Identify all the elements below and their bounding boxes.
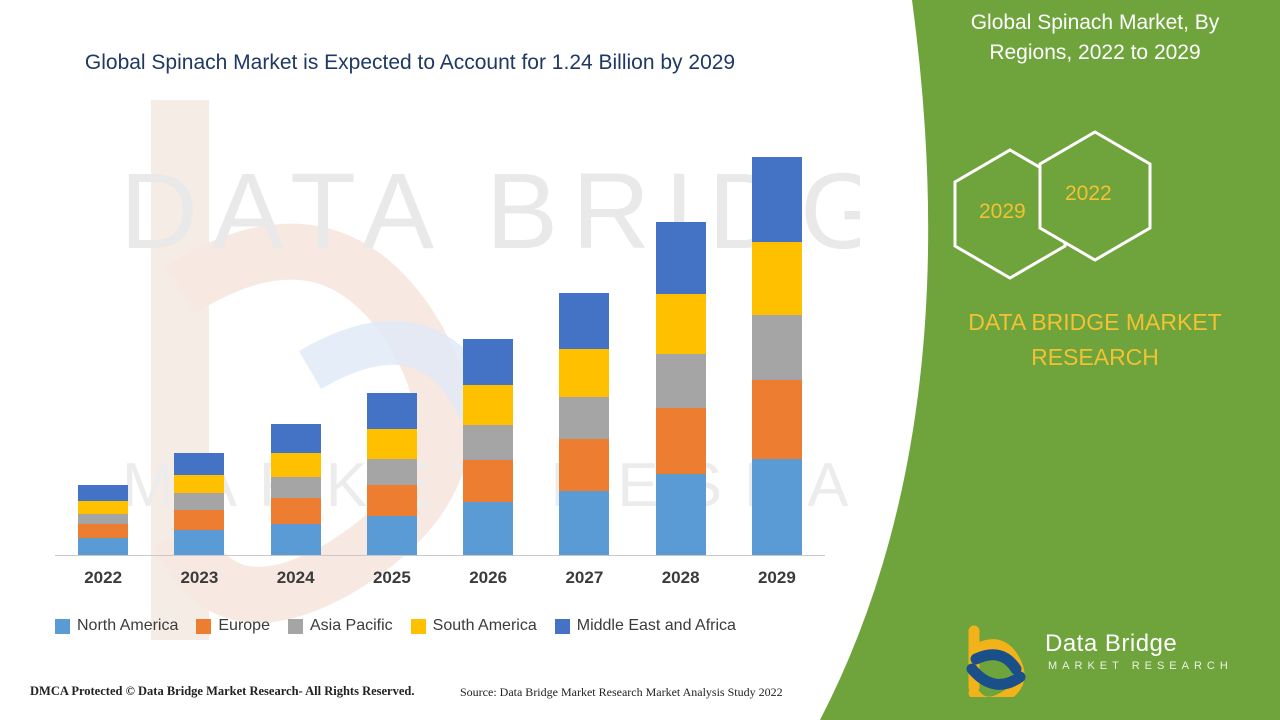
x-axis-label: 2023 (154, 568, 244, 588)
legend-label: South America (433, 617, 537, 635)
bar-segment (271, 424, 321, 453)
bar-column (559, 293, 609, 555)
bar-segment (78, 501, 128, 514)
x-axis-tick-labels: 20222023202420252026202720282029 (55, 568, 825, 596)
bar-segment (367, 429, 417, 459)
x-axis-label: 2027 (539, 568, 629, 588)
bar-segment (174, 510, 224, 530)
x-axis-label: 2022 (58, 568, 148, 588)
bar-column (174, 453, 224, 555)
page-title: Global Spinach Market is Expected to Acc… (40, 48, 780, 78)
bar-segment (367, 459, 417, 485)
x-axis-label: 2026 (443, 568, 533, 588)
bar-column (78, 485, 128, 555)
bar-segment (174, 475, 224, 493)
bar-segment (78, 485, 128, 501)
bar-column (752, 157, 802, 555)
bar-segment (656, 222, 706, 293)
bar-segment (559, 439, 609, 491)
chart-panel: Global Spinach Market is Expected to Acc… (0, 0, 860, 720)
bar-segment (752, 157, 802, 242)
bar-segment (463, 502, 513, 555)
bar-segment (78, 524, 128, 538)
chart-legend: North AmericaEuropeAsia PacificSouth Ame… (55, 617, 845, 635)
legend-label: Europe (218, 617, 270, 635)
legend-label: North America (77, 617, 178, 635)
bar-segment (752, 242, 802, 315)
hex-label-2022: 2022 (1065, 182, 1112, 206)
brand-line-2: RESEARCH (1031, 344, 1159, 370)
bar-segment (656, 294, 706, 355)
bar-segment (367, 393, 417, 429)
bar-segment (559, 397, 609, 439)
hex-label-2029: 2029 (979, 200, 1026, 224)
brand-panel: Global Spinach Market, By Regions, 2022 … (820, 0, 1280, 720)
legend-swatch-icon (411, 619, 426, 634)
bar-segment (559, 491, 609, 555)
hex-badges: 2029 2022 (935, 130, 1255, 290)
bar-segment (656, 354, 706, 408)
legend-item[interactable]: Asia Pacific (288, 617, 393, 635)
bar-segment (271, 498, 321, 524)
bar-segment (752, 459, 802, 555)
bar-column (463, 339, 513, 555)
source-text: Source: Data Bridge Market Research Mark… (460, 685, 783, 700)
bar-segment (174, 453, 224, 475)
bar-segment (78, 538, 128, 555)
bar-segment (463, 460, 513, 502)
legend-item[interactable]: North America (55, 617, 178, 635)
bar-segment (271, 453, 321, 477)
copyright-text: DMCA Protected © Data Bridge Market Rese… (30, 684, 415, 699)
legend-swatch-icon (55, 619, 70, 634)
bar-segment (367, 485, 417, 517)
bar-segment (752, 380, 802, 459)
bar-segment (174, 530, 224, 555)
legend-swatch-icon (555, 619, 570, 634)
bar-segment (559, 349, 609, 397)
bar-segment (656, 408, 706, 474)
x-axis-label: 2029 (732, 568, 822, 588)
bar-segment (559, 293, 609, 349)
bar-segment (271, 524, 321, 555)
x-axis-line (55, 555, 825, 556)
logo-text: Data Bridge (1045, 630, 1177, 658)
bar-column (656, 222, 706, 555)
bar-segment (463, 425, 513, 460)
bar-segment (174, 493, 224, 509)
legend-swatch-icon (196, 619, 211, 634)
stacked-bar-chart (55, 150, 825, 555)
legend-swatch-icon (288, 619, 303, 634)
brand-name: DATA BRIDGE MARKET RESEARCH (930, 305, 1260, 374)
legend-label: Middle East and Africa (577, 617, 736, 635)
bar-column (271, 424, 321, 555)
logo-subtext: MARKET RESEARCH (1048, 660, 1233, 672)
data-bridge-logo-icon (960, 625, 1040, 697)
bar-segment (367, 516, 417, 555)
bar-segment (78, 514, 128, 525)
x-axis-label: 2025 (347, 568, 437, 588)
panel-title: Global Spinach Market, By Regions, 2022 … (930, 8, 1260, 69)
legend-item[interactable]: Europe (196, 617, 270, 635)
bar-segment (271, 477, 321, 498)
bar-segment (656, 474, 706, 555)
legend-item[interactable]: Middle East and Africa (555, 617, 736, 635)
bar-segment (463, 385, 513, 425)
bar-segment (752, 315, 802, 380)
brand-line-1: DATA BRIDGE MARKET (968, 309, 1221, 335)
bar-column (367, 393, 417, 555)
logo: Data Bridge MARKET RESEARCH (960, 625, 1260, 700)
legend-item[interactable]: South America (411, 617, 537, 635)
legend-label: Asia Pacific (310, 617, 393, 635)
x-axis-label: 2028 (636, 568, 726, 588)
bar-segment (463, 339, 513, 385)
x-axis-label: 2024 (251, 568, 341, 588)
